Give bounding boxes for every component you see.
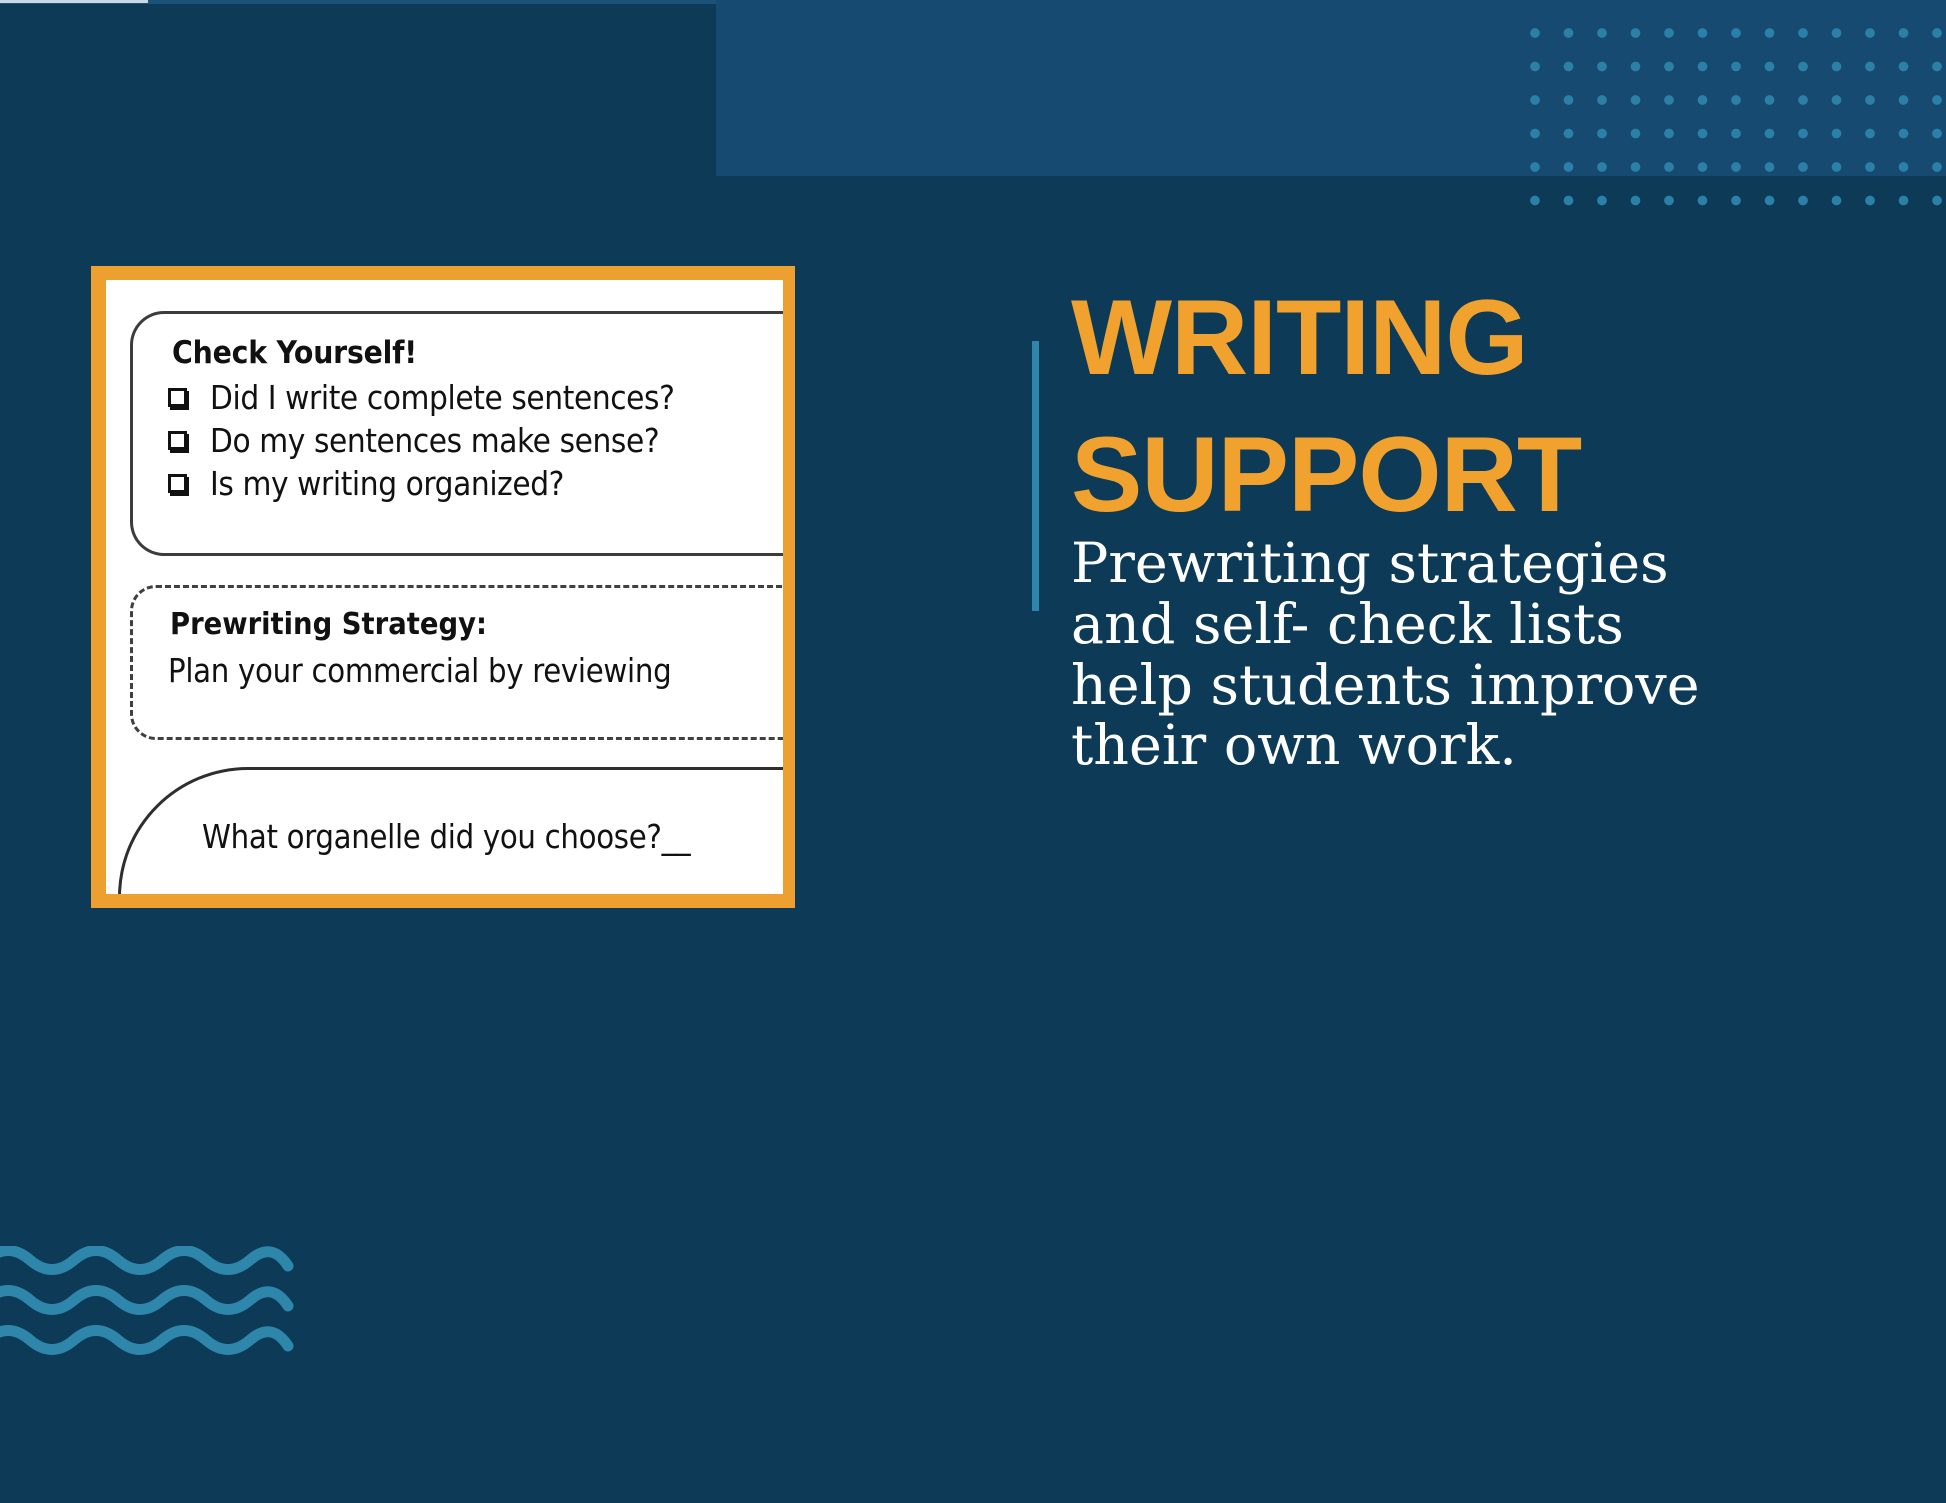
- checkbox-icon: [168, 474, 187, 493]
- checkbox-icon: [168, 431, 187, 450]
- page-subtitle-line-4: their own work.: [1071, 716, 1861, 777]
- worksheet-image-frame: Check Yourself! Did I write complete sen…: [91, 266, 795, 908]
- top-strip-highlight: [0, 0, 148, 3]
- check-yourself-title: Check Yourself!: [172, 335, 417, 371]
- prewriting-strategy-title: Prewriting Strategy:: [170, 607, 487, 642]
- checkbox-icon: [168, 388, 187, 407]
- title-accent-rule: [1032, 341, 1039, 611]
- slide-canvas: Check Yourself! Did I write complete sen…: [0, 0, 1946, 1503]
- page-subtitle-line-3: help students improve: [1071, 656, 1861, 717]
- dot-grid-decoration: [1530, 28, 1946, 208]
- checklist-item-label: Did I write complete sentences?: [210, 378, 674, 417]
- wave-lines-decoration: [0, 1246, 300, 1360]
- page-title-line-1: WRITING: [1071, 269, 1921, 406]
- checklist-item: Did I write complete sentences?: [168, 378, 674, 417]
- checklist-item-label: Do my sentences make sense?: [210, 421, 659, 460]
- page-subtitle-line-2: and self- check lists: [1071, 595, 1861, 656]
- checklist-item-label: Is my writing organized?: [210, 464, 564, 503]
- page-subtitle-line-1: Prewriting strategies: [1071, 534, 1861, 595]
- page-title-line-2: SUPPORT: [1071, 406, 1921, 543]
- prewriting-strategy-text: Plan your commercial by reviewing: [168, 652, 671, 690]
- checklist-item: Do my sentences make sense?: [168, 421, 659, 460]
- organelle-question-text: What organelle did you choose?__: [202, 818, 690, 856]
- checklist-item: Is my writing organized?: [168, 464, 564, 503]
- page-title: WRITING SUPPORT: [1071, 269, 1921, 543]
- page-subtitle: Prewriting strategies and self- check li…: [1071, 534, 1861, 777]
- worksheet-image: Check Yourself! Did I write complete sen…: [106, 280, 783, 894]
